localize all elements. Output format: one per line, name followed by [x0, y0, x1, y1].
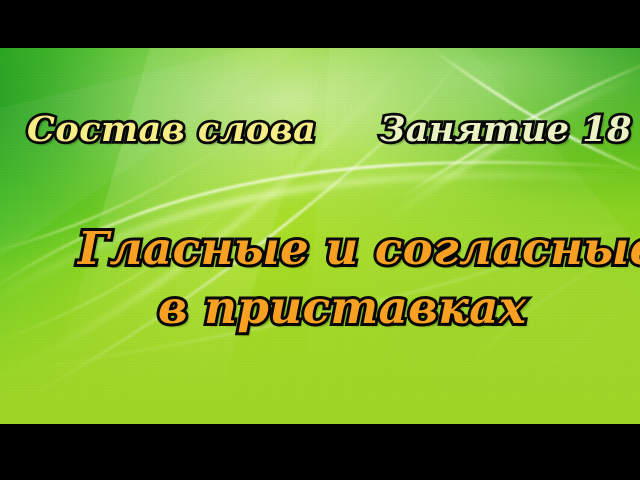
video-title-slide: Состав слова Занятие 18 Гласные и соглас… — [0, 0, 640, 480]
letterbox-bar-bottom — [0, 424, 640, 480]
slide-text-layer: Состав слова Занятие 18 Гласные и соглас… — [0, 48, 640, 424]
slide-title-line-1: Гласные и согласные — [78, 226, 640, 271]
slide-title-line-2: в приставках — [158, 285, 526, 330]
lesson-number-label: Занятие 18 — [380, 112, 632, 147]
course-section-label: Состав слова — [27, 112, 316, 147]
slide-artwork-stage: Состав слова Занятие 18 Гласные и соглас… — [0, 48, 640, 424]
letterbox-bar-top — [0, 0, 640, 48]
